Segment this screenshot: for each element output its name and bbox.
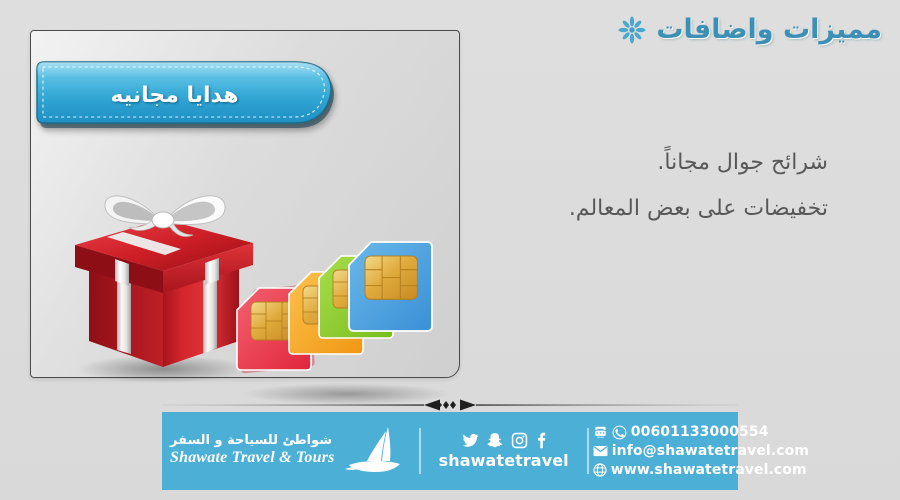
globe-icon bbox=[593, 463, 607, 477]
contact-phone: 00601133000554 bbox=[631, 424, 769, 440]
content-card: هدايا مجانيه bbox=[30, 30, 460, 378]
body-line-1: شرائح جوال مجاناً. bbox=[458, 140, 828, 186]
body-line-2: تخفيضات على بعض المعالم. bbox=[458, 186, 828, 232]
social-block: shawatetravel bbox=[425, 432, 583, 470]
twitter-icon[interactable] bbox=[461, 432, 480, 449]
footer-divider-left bbox=[587, 428, 589, 474]
card-ribbon-banner: هدايا مجانيه bbox=[33, 61, 338, 129]
body-text-block: شرائح جوال مجاناً. تخفيضات على بعض المعا… bbox=[458, 140, 828, 232]
contact-row-phone: 00601133000554 bbox=[593, 423, 769, 441]
footer-divider-right bbox=[419, 428, 421, 474]
phone-icon bbox=[593, 425, 608, 439]
social-handle: shawatetravel bbox=[439, 451, 569, 470]
brand-name-english: Shawate Travel & Tours bbox=[170, 449, 335, 467]
brand-text: شواطئ للسياحة و السفر Shawate Travel & T… bbox=[170, 434, 335, 467]
contact-block: 00601133000554 info@shawatetravel.com ww… bbox=[593, 423, 823, 479]
facebook-icon[interactable] bbox=[535, 432, 547, 449]
ribbon-shape bbox=[33, 61, 338, 129]
sim-cards-graphic bbox=[229, 236, 459, 404]
decorative-divider bbox=[162, 398, 738, 412]
page-title: مميزات واضافات bbox=[618, 14, 882, 45]
dhow-sailboat-icon bbox=[341, 425, 403, 477]
page-title-text: مميزات واضافات bbox=[656, 14, 882, 45]
diamond-divider-icon bbox=[162, 398, 738, 412]
footer-bar: شواطئ للسياحة و السفر Shawate Travel & T… bbox=[162, 412, 738, 490]
envelope-icon bbox=[593, 445, 608, 457]
snapchat-icon[interactable] bbox=[487, 432, 504, 449]
contact-email: info@shawatetravel.com bbox=[612, 443, 809, 459]
contact-row-email: info@shawatetravel.com bbox=[593, 442, 809, 460]
flower-asterisk-icon bbox=[618, 16, 646, 44]
brand-name-arabic: شواطئ للسياحة و السفر bbox=[170, 434, 332, 449]
whatsapp-icon bbox=[612, 425, 627, 440]
instagram-icon[interactable] bbox=[511, 432, 528, 449]
social-icons bbox=[461, 432, 547, 449]
brand-logo: شواطئ للسياحة و السفر Shawate Travel & T… bbox=[162, 425, 415, 477]
sim-cards-illustration bbox=[229, 236, 459, 404]
slide-canvas: مميزات واضافات شرائح جوال مجا bbox=[0, 0, 900, 500]
contact-row-website: www.shawatetravel.com bbox=[593, 461, 807, 479]
contact-website: www.shawatetravel.com bbox=[611, 462, 807, 478]
